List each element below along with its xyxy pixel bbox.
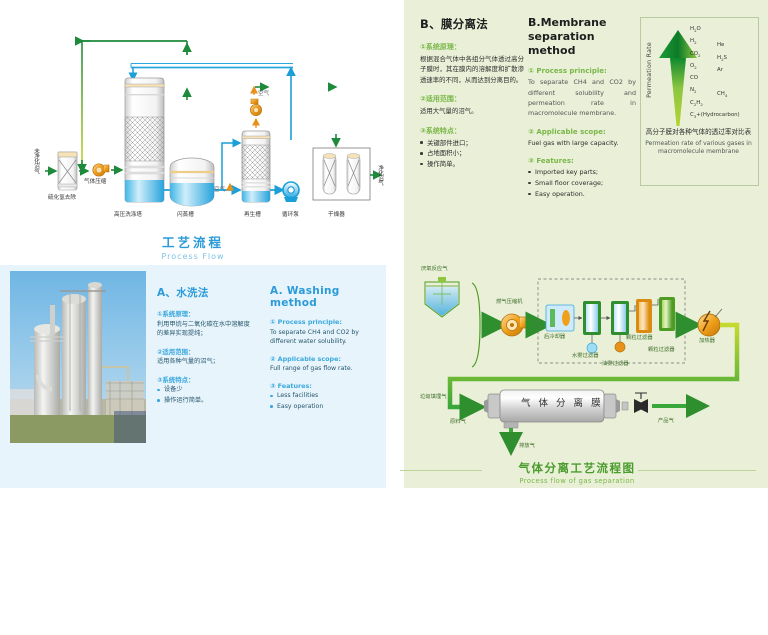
- gas-primary: N2: [690, 87, 697, 94]
- gas-secondary: CH4: [717, 91, 727, 98]
- gas-primary: CO2: [690, 51, 701, 58]
- membrane-en-s2-title: ② Applicable scope:: [528, 128, 636, 136]
- label-circulating-pump: 循环泵: [282, 213, 299, 219]
- gas-row: H2O: [690, 26, 756, 38]
- washing-en-s1-body: To separate CH4 and CO2 by different wat…: [270, 328, 382, 347]
- label-particle-filter-2: 颗粒过滤器: [648, 348, 675, 353]
- gas-separation-title-cn: 气体分离工艺流程图: [386, 460, 768, 476]
- washing-cn-s2-body: 适用各种气量的沼气；: [157, 357, 255, 367]
- label-anaerobic-gas: 厌氧反应气: [421, 267, 448, 272]
- washing-method-en: A. Washing method ① Process principle: T…: [270, 285, 382, 412]
- gas-separation-title-en: Process flow of gas separation: [386, 477, 768, 485]
- washing-en-s3-title: ③ Features:: [270, 382, 382, 390]
- washing-method-cn: A、水洗法 ①系统原理： 利用甲烷与二氧化碳在水中溶解度的差异实现提纯； ②适用…: [157, 285, 255, 406]
- label-gas-compressor: 燃气压缩机: [496, 300, 523, 305]
- membrane-cn-s2-body: 适用大气量的沼气。: [420, 106, 524, 116]
- process-flow-title: 工艺流程 Process Flow: [0, 232, 386, 261]
- gas-primary: H2: [690, 38, 697, 45]
- label-after-cooler: 后冷却器: [544, 335, 565, 340]
- process-flow-diagram: 未净化沼气 硫化氢去除 气体压缩 高压洗涤塔 闪蒸槽 空气 空气 再生槽 循环泵…: [0, 0, 386, 235]
- permeation-axis-label: Permeation Rate: [646, 42, 653, 98]
- gas-row: C3+(Hydrocarbon): [690, 112, 756, 124]
- poster-page: 未净化沼气 硫化氢去除 气体压缩 高压洗涤塔 闪蒸槽 空气 空气 再生槽 循环泵…: [0, 0, 768, 488]
- label-particle-filter-1: 颗粒过滤器: [626, 336, 653, 341]
- gas-secondary: H2S: [717, 55, 727, 62]
- washing-heading-en: A. Washing method: [270, 285, 382, 309]
- permeation-caption-cn: 高分子膜对各种气体的透过率对比表: [641, 128, 756, 138]
- label-membrane: 气 体 分 离 膜: [521, 399, 603, 409]
- label-heater: 加热器: [699, 339, 715, 344]
- gas-primary: C3+(Hydrocarbon): [690, 112, 740, 119]
- label-regeneration-tank: 再生槽: [244, 213, 261, 219]
- gas-row: H2 He: [690, 38, 756, 50]
- membrane-cn-s3-item: 关键部件进口；: [420, 138, 524, 149]
- label-raw-gas: 原料气: [450, 420, 466, 425]
- gas-row: C2H2: [690, 100, 756, 112]
- gas-separation-title: 气体分离工艺流程图 Process flow of gas separation: [386, 460, 768, 485]
- washing-heading-cn: A、水洗法: [157, 285, 255, 300]
- label-water-mist-filter: 水雾过滤器: [572, 354, 599, 359]
- washing-cn-s1-title: ①系统原理：: [157, 309, 255, 318]
- membrane-cn-s1-title: ①系统原理：: [420, 42, 524, 52]
- process-flow-title-cn: 工艺流程: [0, 232, 386, 251]
- label-product-gas: 净化沼气: [376, 165, 384, 185]
- membrane-en-s3-item: Small floor coverage;: [528, 178, 636, 189]
- gas-primary: H2O: [690, 26, 701, 33]
- membrane-cn-s3-item: 占地面积小；: [420, 148, 524, 159]
- membrane-cn-s3-item: 操作简单。: [420, 159, 524, 170]
- washing-en-s2-body: Full range of gas flow rate.: [270, 364, 382, 374]
- membrane-en-s3-title: ③ Features:: [528, 157, 636, 165]
- permeation-gas-list: H2O H2 He CO2 H2S O2 Ar CO N2 CH4 C2H2 C…: [690, 26, 756, 124]
- gas-secondary: Ar: [717, 67, 723, 73]
- permeation-caption: 高分子膜对各种气体的透过率对比表 Permeation rate of vari…: [641, 128, 756, 156]
- membrane-cn-s2-title: ②适用范围：: [420, 94, 524, 104]
- label-dryer: 干燥器: [328, 213, 345, 219]
- label-landfill-gas: 垃圾填埋气: [420, 395, 447, 400]
- membrane-en-s1-title: ① Process principle:: [528, 67, 636, 75]
- washing-en-s3-item: Less facilities: [270, 391, 382, 401]
- gas-row: CO2 H2S: [690, 51, 756, 63]
- membrane-en-s1-body: To separate CH4 and CO2 by different sol…: [528, 77, 636, 119]
- membrane-heading-cn: B、膜分离法: [420, 16, 524, 32]
- label-vent-gas: 排放气: [519, 444, 535, 449]
- gas-secondary: He: [717, 42, 724, 48]
- gas-primary: O2: [690, 63, 697, 70]
- washing-cn-s1-body: 利用甲烷与二氧化碳在水中溶解度的差异实现提纯；: [157, 320, 255, 339]
- washing-cn-s3-item: 设备少: [157, 385, 255, 395]
- membrane-cn-s3-title: ③系统特点：: [420, 126, 524, 136]
- label-h2s-removal: 硫化氢去除: [48, 196, 76, 202]
- gas-row: CO: [690, 75, 756, 87]
- label-flash-tank: 闪蒸槽: [177, 213, 194, 219]
- gas-primary: C2H2: [690, 100, 703, 107]
- membrane-en-s3-item: Imported key parts;: [528, 167, 636, 178]
- label-gas-compression: 气体压缩: [84, 180, 106, 186]
- membrane-en-s3-item: Easy operation.: [528, 189, 636, 200]
- gas-separation-diagram: 厌氧反应气 垃圾填埋气 燃气压缩机 后冷却器 水雾过滤器 油雾过滤器 颗粒过滤器…: [386, 255, 768, 470]
- washing-cn-s3-item: 操作运行简单。: [157, 396, 255, 406]
- washing-en-s3-item: Easy operation: [270, 402, 382, 412]
- label-air-in: 空气: [214, 188, 225, 194]
- permeation-caption-en: Permeation rate of various gases in macr…: [641, 140, 756, 157]
- process-flow-title-en: Process Flow: [0, 252, 386, 261]
- label-feed-gas: 未净化沼气: [32, 148, 40, 174]
- label-air-out: 空气: [258, 92, 269, 98]
- washing-cn-s3-title: ③系统特点：: [157, 375, 255, 384]
- label-oil-mist-filter: 油雾过滤器: [602, 362, 629, 367]
- washing-cn-s2-title: ②适用范围：: [157, 347, 255, 356]
- label-washing-tower: 高压洗涤塔: [114, 213, 142, 219]
- label-product-gas: 产品气: [658, 419, 674, 424]
- gas-row: O2 Ar: [690, 63, 756, 75]
- washing-plant-photo: [10, 271, 146, 443]
- gas-row: N2 CH4: [690, 87, 756, 99]
- membrane-cn-s1-body: 根据混合气体中各组分气体透过高分子膜时，其在膜内的溶解度和扩散渗透速率的不同，从…: [420, 54, 524, 85]
- membrane-heading-en: B.Membrane separation method: [528, 16, 636, 57]
- gas-primary: CO: [690, 75, 698, 81]
- membrane-en-s2-body: Fuel gas with large capacity.: [528, 138, 636, 148]
- washing-en-s1-title: ① Process principle:: [270, 318, 382, 326]
- washing-en-s2-title: ② Applicable scope:: [270, 355, 382, 363]
- membrane-method-en: B.Membrane separation method ① Process p…: [528, 16, 636, 200]
- membrane-method-cn: B、膜分离法 ①系统原理： 根据混合气体中各组分气体透过高分子膜时，其在膜内的溶…: [420, 16, 524, 170]
